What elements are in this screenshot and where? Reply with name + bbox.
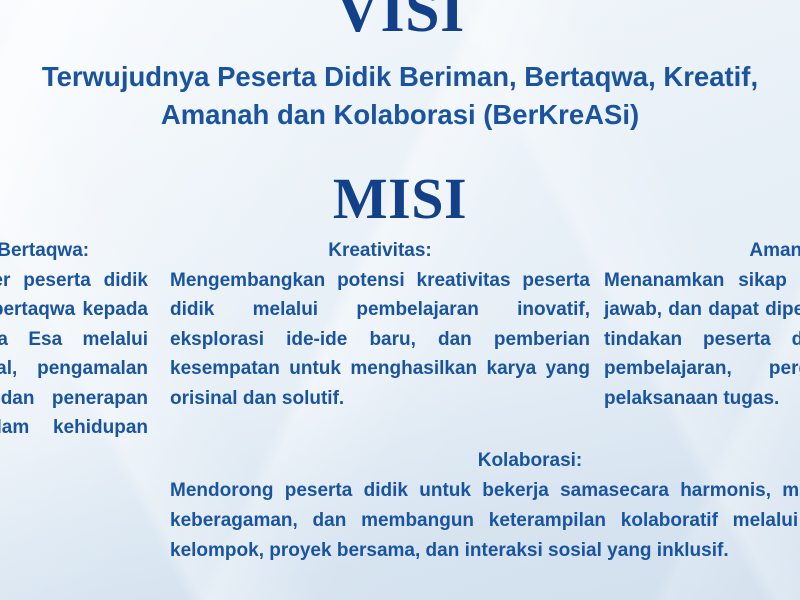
misi-item-amanah-title: Amanah: [604, 236, 800, 266]
misi-item-kolaborasi-title: Kolaborasi: [170, 446, 800, 476]
visi-statement-line-2: Amanah dan Kolaborasi (BerKreASi) [0, 96, 800, 134]
misi-item-beriman-bertaqwa: Beriman dan Bertaqwa: Membentuk karakter… [0, 236, 148, 472]
misi-item-amanah: Amanah: Menanamkan sikap jujur, bertangg… [604, 236, 800, 413]
misi-heading: MISI [0, 166, 800, 232]
visi-statement-line-1: Terwujudnya Peserta Didik Beriman, Berta… [0, 58, 800, 96]
misi-item-beriman-bertaqwa-body: Membentuk karakter peserta didik yang be… [0, 266, 148, 473]
misi-item-kreativitas-title: Kreativitas: [170, 236, 590, 266]
misi-item-amanah-body: Menanamkan sikap jujur, bertanggung jawa… [604, 266, 800, 414]
visi-statement: Terwujudnya Peserta Didik Beriman, Berta… [0, 58, 800, 134]
presentation-slide: VISI Terwujudnya Peserta Didik Beriman, … [0, 0, 800, 600]
misi-item-kreativitas-body: Mengembangkan potensi kreativitas pesert… [170, 266, 590, 414]
misi-item-kolaborasi: Kolaborasi: Mendorong peserta didik untu… [170, 446, 800, 566]
visi-heading: VISI [0, 0, 800, 46]
misi-item-kolaborasi-body: Mendorong peserta didik untuk bekerja sa… [170, 476, 800, 566]
misi-item-kreativitas: Kreativitas: Mengembangkan potensi kreat… [170, 236, 590, 413]
misi-item-beriman-bertaqwa-title: Beriman dan Bertaqwa: [0, 236, 148, 266]
